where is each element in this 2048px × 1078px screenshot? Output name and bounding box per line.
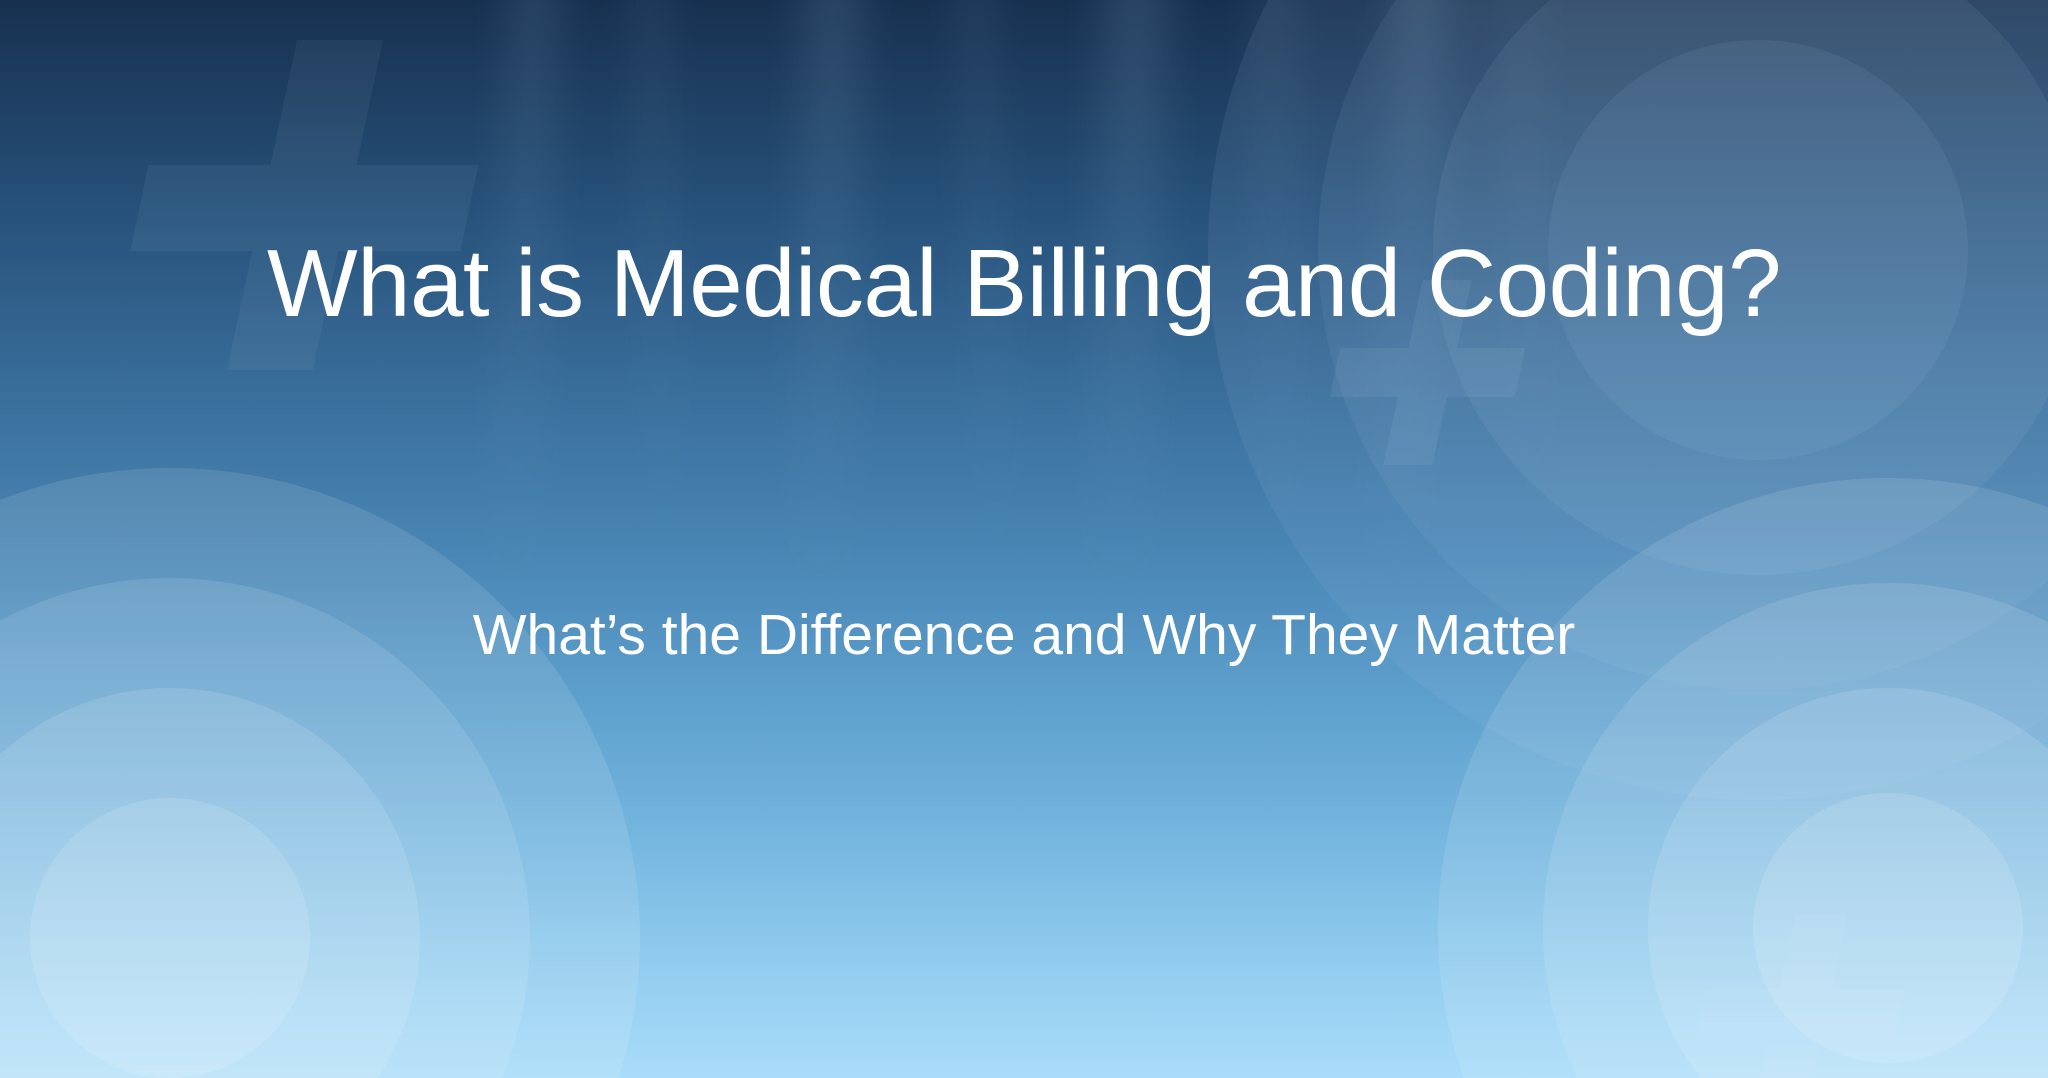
slide-content: What is Medical Billing and Coding? What… xyxy=(0,0,2048,1078)
slide-title: What is Medical Billing and Coding? xyxy=(204,228,1844,339)
presentation-slide: What is Medical Billing and Coding? What… xyxy=(0,0,2048,1078)
slide-subtitle: What’s the Difference and Why They Matte… xyxy=(174,600,1874,671)
